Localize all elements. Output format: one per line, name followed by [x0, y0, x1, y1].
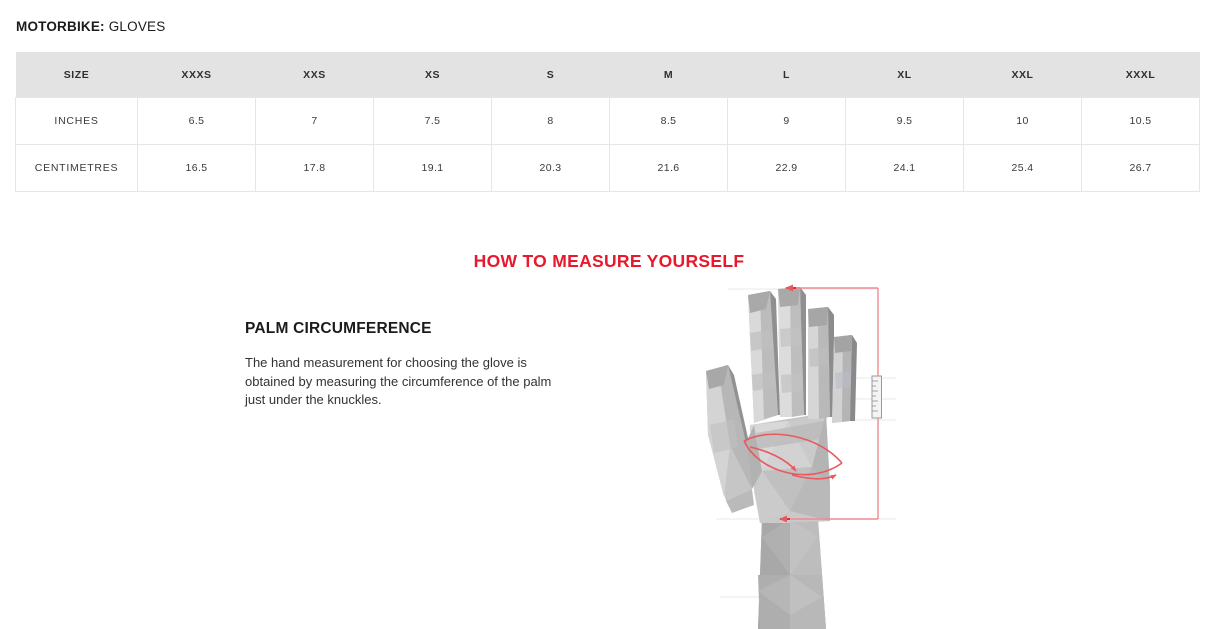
cell-cm-s: 20.3 — [492, 145, 610, 192]
page-title-product: GLOVES — [109, 19, 166, 34]
cell-cm-xxs: 17.8 — [256, 145, 374, 192]
cell-cm-m: 21.6 — [610, 145, 728, 192]
page-title: MOTORBIKE: GLOVES — [16, 19, 165, 34]
how-to-measure-heading: HOW TO MEASURE YOURSELF — [0, 251, 1214, 272]
cell-inches-xxs: 7 — [256, 98, 374, 145]
cell-inches-m: 8.5 — [610, 98, 728, 145]
cell-inches-xxxl: 10.5 — [1082, 98, 1200, 145]
column-header-xxxl: XXXL — [1082, 52, 1200, 98]
column-header-xs: XS — [374, 52, 492, 98]
ruler-icon — [872, 376, 882, 418]
column-header-s: S — [492, 52, 610, 98]
column-header-m: M — [610, 52, 728, 98]
cell-inches-s: 8 — [492, 98, 610, 145]
cell-cm-l: 22.9 — [728, 145, 846, 192]
table-row-centimetres: CENTIMETRES 16.5 17.8 19.1 20.3 21.6 22.… — [16, 145, 1200, 192]
cell-cm-xxxs: 16.5 — [138, 145, 256, 192]
cell-inches-xl: 9.5 — [846, 98, 964, 145]
palm-circumference-block: PALM CIRCUMFERENCE The hand measurement … — [245, 320, 565, 410]
palm-circumference-description: The hand measurement for choosing the gl… — [245, 354, 565, 410]
column-header-size: SIZE — [16, 52, 138, 98]
cell-inches-xxxs: 6.5 — [138, 98, 256, 145]
page-title-category: MOTORBIKE: — [16, 19, 105, 34]
cell-cm-xxxl: 26.7 — [1082, 145, 1200, 192]
palm-circumference-title: PALM CIRCUMFERENCE — [245, 320, 565, 338]
cell-inches-xs: 7.5 — [374, 98, 492, 145]
cell-cm-xxl: 25.4 — [964, 145, 1082, 192]
cell-inches-l: 9 — [728, 98, 846, 145]
cell-inches-xxl: 10 — [964, 98, 1082, 145]
column-header-l: L — [728, 52, 846, 98]
hand-diagram-svg — [700, 275, 960, 629]
cell-cm-xl: 24.1 — [846, 145, 964, 192]
hand-measurement-illustration — [700, 275, 960, 629]
table-header-row: SIZE XXXS XXS XS S M L XL XXL XXXL — [16, 52, 1200, 98]
row-label-centimetres: CENTIMETRES — [16, 145, 138, 192]
table-row-inches: INCHES 6.5 7 7.5 8 8.5 9 9.5 10 10.5 — [16, 98, 1200, 145]
column-header-xxs: XXS — [256, 52, 374, 98]
column-header-xxl: XXL — [964, 52, 1082, 98]
row-label-inches: INCHES — [16, 98, 138, 145]
cell-cm-xs: 19.1 — [374, 145, 492, 192]
size-chart-table: SIZE XXXS XXS XS S M L XL XXL XXXL INCHE… — [15, 52, 1200, 192]
column-header-xl: XL — [846, 52, 964, 98]
how-to-measure-heading-text: HOW TO MEASURE YOURSELF — [474, 251, 745, 272]
column-header-xxxs: XXXS — [138, 52, 256, 98]
